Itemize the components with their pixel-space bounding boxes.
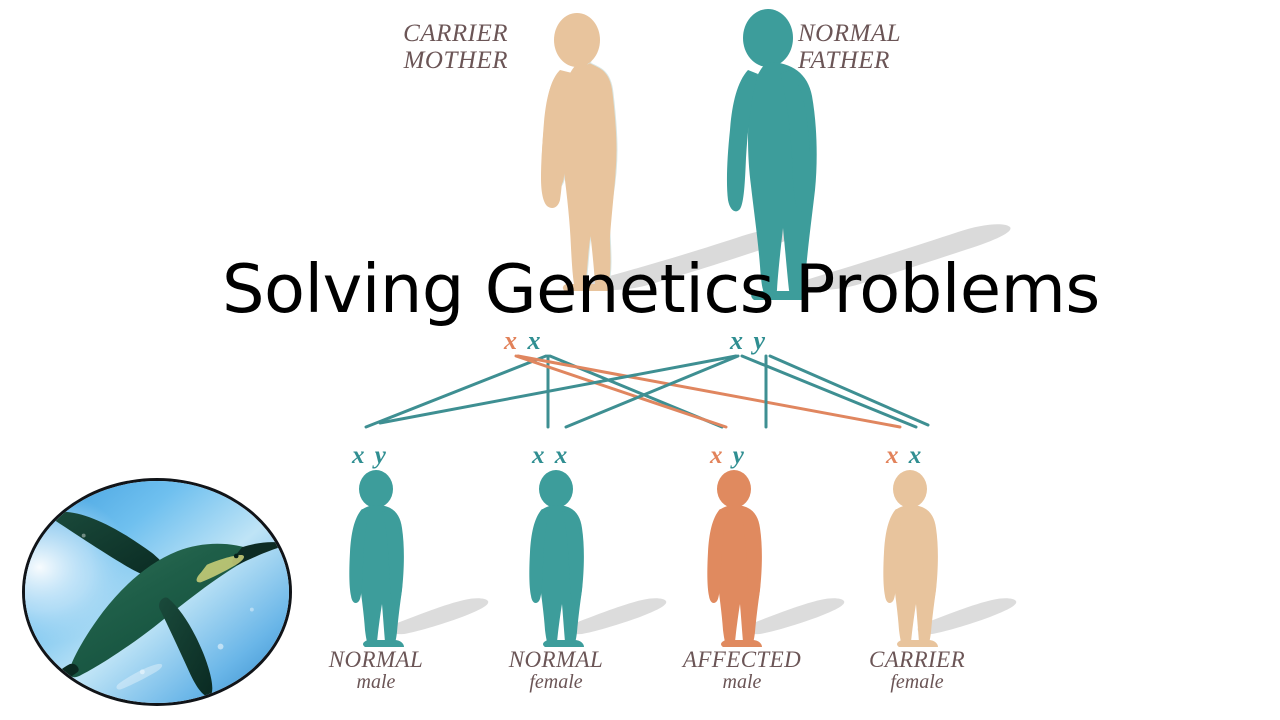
child1-label-line1: NORMAL (306, 648, 446, 672)
child4-figure (883, 470, 938, 647)
child3-allele-1: x (710, 442, 725, 469)
child4-allele-1: x (886, 442, 901, 469)
child4-label: CARRIER female (842, 648, 992, 693)
child2-shadow (568, 598, 667, 634)
child2-allele-2: x (555, 442, 570, 469)
mother-allele-2: x (528, 326, 543, 355)
child3-label-line1: AFFECTED (662, 648, 822, 672)
mother-label-line2: MOTHER (404, 47, 508, 74)
child2-label: NORMAL female (486, 648, 626, 693)
mother-allele-1: x (504, 326, 519, 355)
line-father-y-to-child4b (770, 356, 928, 425)
child1-figure (349, 470, 404, 647)
father-allele-2: y (754, 326, 768, 355)
child4-genotype: x x (886, 442, 923, 470)
inheritance-lines (366, 356, 928, 427)
father-genotype: x y (730, 326, 767, 356)
penguin-illustration (25, 481, 289, 703)
child1-shadow (390, 598, 489, 634)
father-label-line2: FATHER (798, 47, 890, 74)
line-mother-teal-to-child1 (366, 356, 546, 427)
child4-label-line1: CARRIER (842, 648, 992, 672)
mother-label: CARRIER MOTHER (348, 20, 508, 74)
child1-label: NORMAL male (306, 648, 446, 693)
child2-label-line2: female (486, 672, 626, 693)
child3-label: AFFECTED male (662, 648, 822, 693)
mother-label-line1: CARRIER (403, 20, 508, 47)
father-label-line1: NORMAL (798, 20, 901, 47)
penguin-photo-badge (22, 478, 292, 706)
slide-canvas: CARRIER MOTHER NORMAL FATHER x x x y x y… (0, 0, 1280, 720)
child1-genotype: x y (352, 442, 388, 470)
child1-allele-2: y (375, 442, 388, 469)
child2-figure (529, 470, 584, 647)
child3-figure (707, 470, 762, 647)
line-father-x-to-child4 (742, 356, 916, 427)
child3-label-line2: male (662, 672, 822, 693)
mother-head (554, 13, 600, 67)
page-title: Solving Genetics Problems (222, 256, 1062, 323)
child2-allele-1: x (532, 442, 547, 469)
child2-genotype: x x (532, 442, 569, 470)
father-label: NORMAL FATHER (798, 20, 978, 74)
father-head (743, 9, 793, 67)
child2-label-line1: NORMAL (486, 648, 626, 672)
child1-allele-1: x (352, 442, 367, 469)
child3-genotype: x y (710, 442, 746, 470)
child4-allele-2: x (909, 442, 924, 469)
mother-genotype: x x (504, 326, 543, 356)
child1-label-line2: male (306, 672, 446, 693)
child3-shadow (746, 598, 845, 634)
father-allele-1: x (730, 326, 745, 355)
child4-label-line2: female (842, 672, 992, 693)
child3-allele-2: y (733, 442, 746, 469)
